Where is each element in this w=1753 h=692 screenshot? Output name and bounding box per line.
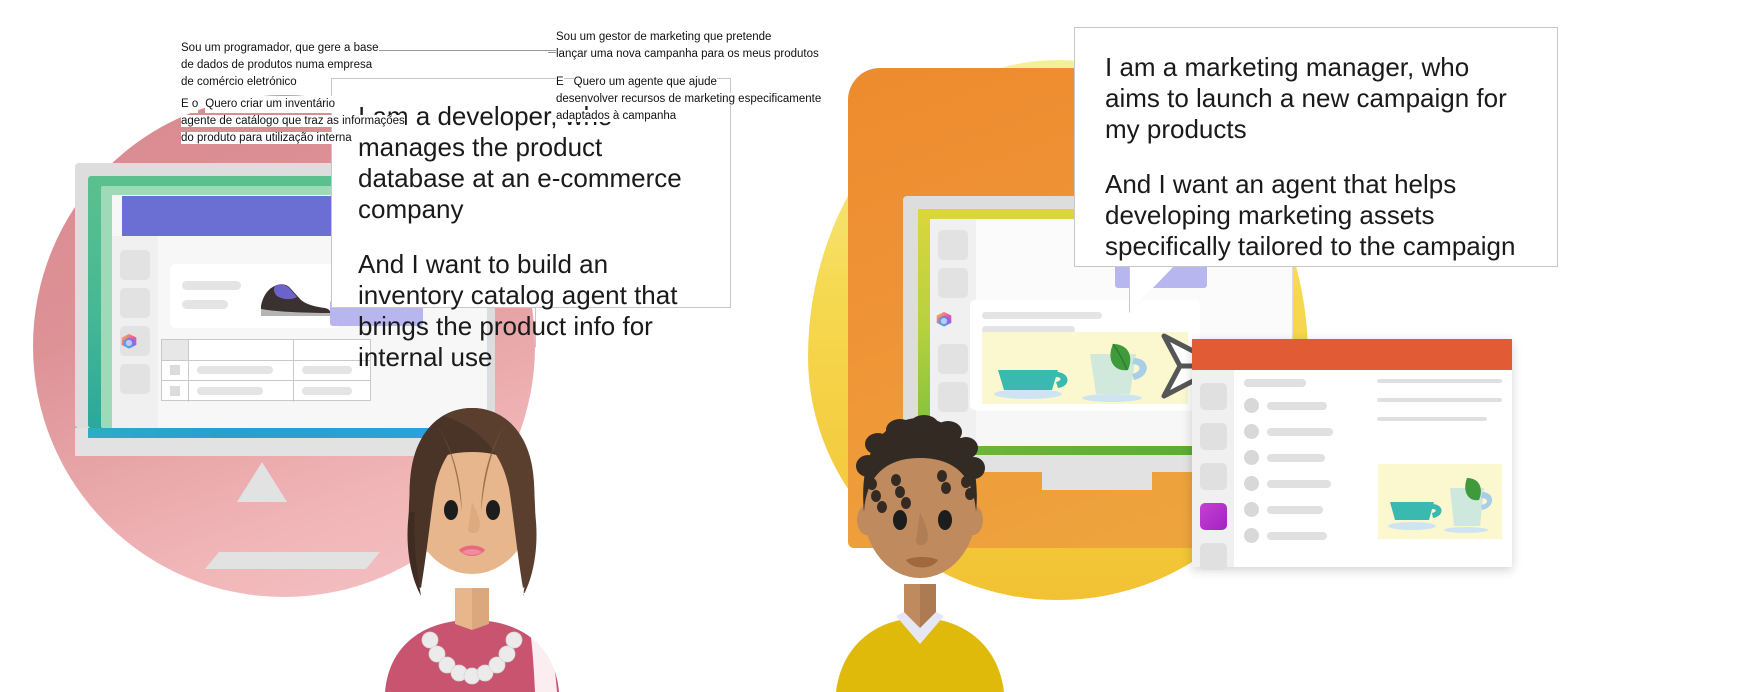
table-header-row (162, 340, 370, 361)
app-tile-2[interactable] (1200, 423, 1227, 450)
app-item-list (1244, 379, 1364, 554)
row-checkbox[interactable] (162, 381, 189, 402)
illustration-canvas: I am a developer, who manages the produc… (0, 0, 1753, 692)
overlay-line: de dados de produtos numa empresa (181, 59, 372, 71)
speech-bubble-tail-right (1130, 266, 1174, 312)
bubble-paragraph-1: I am a marketing manager, who aims to la… (1105, 52, 1527, 145)
overlay-line: E o (181, 96, 198, 113)
overlay-line: Sou um programador, que gere a base (181, 42, 379, 54)
table-header-cell-2 (189, 340, 294, 360)
row-cell-value (294, 381, 370, 402)
copilot-icon[interactable] (118, 332, 140, 354)
sidebar-tile-2[interactable] (120, 288, 150, 318)
overlay-text-right-top: Sou um gestor de marketing que pretende … (556, 29, 819, 63)
app-detail-pane (1377, 379, 1502, 436)
row-checkbox[interactable] (162, 361, 189, 381)
app-tile-3[interactable] (1200, 463, 1227, 490)
overlay-line: Sou um gestor de marketing que pretende (556, 31, 771, 43)
overlay-line: agente de catálogo que traz as informaçõ… (181, 115, 405, 127)
speech-bubble-marketing: I am a marketing manager, who aims to la… (1074, 27, 1558, 267)
sidebar-tile-1[interactable] (120, 250, 150, 280)
tea-cup-icon (1378, 464, 1502, 539)
monitor-stand (237, 462, 287, 502)
bubble-paragraph-2: And I want an agent that helps developin… (1105, 169, 1527, 262)
list-item[interactable] (1244, 450, 1364, 465)
man-avatar (820, 384, 1020, 692)
list-item[interactable] (1244, 398, 1364, 413)
overlay-text-left-bottom: E o Quero criar um inventário agente de … (181, 96, 405, 147)
product-line-2 (182, 300, 228, 309)
overlay-line: E (556, 74, 564, 91)
overlay-line: lançar uma nova campanha para os meus pr… (556, 48, 819, 60)
shoe-product-icon (255, 276, 333, 318)
copilot-icon[interactable] (933, 310, 955, 332)
list-item[interactable] (1244, 502, 1364, 517)
monitor-base (205, 552, 380, 569)
detail-line-3 (1377, 417, 1487, 421)
app-tile-active[interactable] (1200, 503, 1227, 530)
detail-line-1 (1377, 379, 1502, 383)
overlay-line: do produto para utilização interna (181, 132, 352, 144)
table-header-cell-1 (162, 340, 189, 360)
overlay-line: desenvolver recursos de marketing especi… (556, 93, 821, 105)
overlay-text-left-top: Sou um programador, que gere a base de d… (181, 40, 379, 91)
list-item[interactable] (1244, 424, 1364, 439)
detail-line-2 (1377, 398, 1502, 402)
laptop-sidebar-tile-1[interactable] (938, 230, 968, 260)
app-tile-1[interactable] (1200, 383, 1227, 410)
table-row[interactable] (162, 381, 370, 402)
app-tile-5[interactable] (1200, 543, 1227, 570)
list-item[interactable] (1244, 528, 1364, 543)
asset-line-1 (982, 312, 1102, 319)
list-item[interactable] (1244, 379, 1364, 387)
row-cell-name (189, 381, 294, 402)
bubble-paragraph-2: And I want to build an inventory catalog… (358, 249, 704, 373)
data-table (161, 339, 371, 401)
overlay-line: Quero um agente que ajude (574, 74, 717, 91)
overlay-line: Quero criar um inventário (205, 96, 335, 113)
marketing-app-window (1192, 339, 1512, 567)
laptop-stand (1042, 470, 1152, 490)
woman-avatar (365, 392, 580, 692)
sidebar-tile-4[interactable] (120, 364, 150, 394)
overlay-line: adaptados à campanha (556, 110, 676, 122)
laptop-sidebar-tile-4[interactable] (938, 344, 968, 374)
product-line-1 (182, 281, 241, 290)
laptop-sidebar-tile-2[interactable] (938, 268, 968, 298)
app-cup-panel (1378, 464, 1502, 539)
row-cell-name (189, 361, 294, 381)
app-window-header (1192, 339, 1512, 370)
overlay-line: de comércio eletrónico (181, 76, 297, 88)
list-item[interactable] (1244, 476, 1364, 491)
overlay-text-right-bottom: E Quero um agente que ajude desenvolver … (556, 74, 821, 125)
table-row[interactable] (162, 361, 370, 382)
